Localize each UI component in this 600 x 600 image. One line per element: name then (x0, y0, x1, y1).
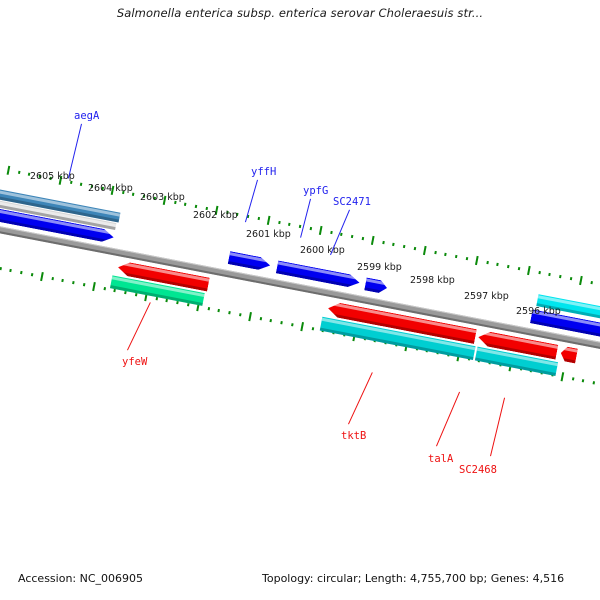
gene-sc2471[interactable] (364, 277, 388, 294)
ruler-dot (590, 281, 593, 284)
ruler-dot (413, 247, 416, 250)
ruler-tick (579, 276, 583, 285)
ruler-dot (195, 205, 198, 208)
ruler-dot (291, 323, 294, 326)
ruler-dot (103, 287, 106, 290)
gene-shadow (559, 357, 575, 363)
gene-label-aega[interactable]: aegA (74, 110, 99, 122)
ruler-dot (311, 327, 314, 330)
gene-highlight (366, 278, 388, 285)
ruler-label-2604: 2604 kbp (88, 183, 133, 194)
page-title: Salmonella enterica subsp. enterica sero… (0, 6, 600, 20)
ruler-dot (259, 317, 262, 320)
gene-label-sc2468[interactable]: SC2468 (459, 464, 497, 476)
ruler-dot (20, 271, 23, 274)
ruler-label-2598: 2598 kbp (410, 275, 455, 286)
gene-yffh[interactable] (228, 251, 272, 272)
ruler-dot (309, 227, 312, 230)
ruler-dot (497, 263, 500, 266)
ruler-dot (382, 241, 385, 244)
ruler-label-2597: 2597 kbp (464, 291, 509, 302)
ruler-dot (330, 231, 333, 234)
gene-label-sc2471[interactable]: SC2471 (333, 196, 371, 208)
ruler-tick (92, 282, 96, 291)
ruler-dot (455, 255, 458, 258)
gene-shadow (364, 287, 386, 294)
ruler-dot (434, 251, 437, 254)
ruler-dot (187, 303, 190, 306)
ruler-label-2599: 2599 kbp (357, 262, 402, 273)
ruler-dot (486, 261, 489, 264)
ruler-dot (228, 311, 231, 314)
ruler-dot (465, 257, 468, 260)
ruler-label-2596: 2596 kbp (516, 306, 561, 317)
ruler-tick (301, 322, 305, 331)
gene-leader-line-aega (68, 124, 82, 178)
ruler-dot (280, 321, 283, 324)
ruler-dot (340, 233, 343, 236)
ruler-dot (403, 245, 406, 248)
ruler-dot (569, 277, 572, 280)
ruler-tick (267, 216, 271, 225)
ruler-dot (582, 379, 585, 382)
ruler-dot (218, 309, 221, 312)
gene-leader-line-tala (436, 392, 460, 446)
gene-label-tala[interactable]: talA (428, 453, 453, 465)
ruler-dot (351, 235, 354, 238)
ruler-label-2603: 2603 kbp (140, 192, 185, 203)
ruler-dot (72, 281, 75, 284)
ruler-dot (30, 273, 33, 276)
ruler-dot (207, 307, 210, 310)
ruler-dot (517, 267, 520, 270)
gene-leader-line-tktb (348, 372, 373, 424)
ruler-tick (248, 312, 252, 321)
ruler-dot (507, 265, 510, 268)
ruler-dot (559, 275, 562, 278)
ruler-dot (270, 319, 273, 322)
gene-highlight (561, 347, 577, 353)
ruler-tick (423, 246, 427, 255)
ruler-dot (361, 237, 364, 240)
ruler-dot (288, 223, 291, 226)
gene-highlight (277, 261, 360, 280)
ruler-tick (319, 226, 323, 235)
ruler-dot (538, 271, 541, 274)
ruler-dot (0, 267, 2, 270)
ruler-dot (572, 377, 575, 380)
ruler-dot (278, 221, 281, 224)
ruler-dot (299, 225, 302, 228)
ruler-dot (445, 253, 448, 256)
ruler-label-2600: 2600 kbp (300, 245, 345, 256)
gene-label-tktb[interactable]: tktB (341, 430, 366, 442)
ruler-label-2601: 2601 kbp (246, 229, 291, 240)
genome-map-viewer: Salmonella enterica subsp. enterica sero… (0, 0, 600, 600)
ruler-tick (527, 266, 531, 275)
ruler-tick (40, 272, 44, 281)
accession-text: Accession: NC_006905 (18, 572, 143, 585)
ruler-label-2602: 2602 kbp (193, 210, 238, 221)
ruler-dot (62, 279, 65, 282)
ruler-dot (184, 203, 187, 206)
ruler-dot (257, 217, 260, 220)
ruler-tick (475, 256, 479, 265)
ruler-tick (561, 372, 565, 381)
ruler-dot (114, 289, 117, 292)
gene-leader-line-yfew (127, 302, 151, 350)
ruler-dot (549, 273, 552, 276)
ruler-dot (239, 313, 242, 316)
genome-summary-text: Topology: circular; Length: 4,755,700 bp… (262, 572, 564, 585)
gene-label-yfew[interactable]: yfeW (122, 356, 147, 368)
gene-leader-line-sc2468 (490, 398, 505, 456)
gene-label-ypfg[interactable]: ypfG (303, 185, 328, 197)
gene-shadow (228, 261, 270, 272)
ruler-dot (10, 269, 13, 272)
ruler-dot (392, 243, 395, 246)
ruler-tick (371, 236, 375, 245)
ruler-dot (18, 171, 21, 174)
gene-label-yffh[interactable]: yffH (251, 166, 276, 178)
gene-highlight (229, 252, 271, 263)
gene-sc2468[interactable] (559, 346, 578, 364)
ruler-dot (51, 277, 54, 280)
ruler-dot (80, 183, 83, 186)
ruler-dot (83, 283, 86, 286)
ruler-dot (593, 381, 596, 384)
ruler-tick (7, 166, 11, 175)
